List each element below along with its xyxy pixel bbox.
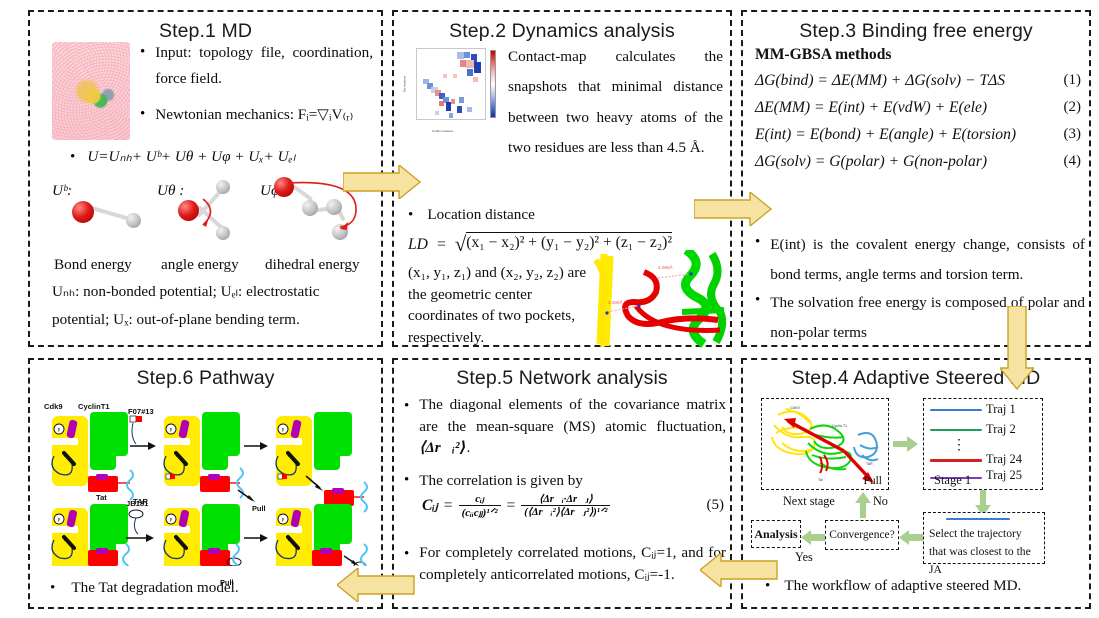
pathway-row2-stage3: P xyxy=(276,504,367,566)
panel-step4: Step.4 Adaptive Steered MD xyxy=(741,358,1091,609)
step5-bullet-3: • For completely correlated motions, Cᵢⱼ… xyxy=(404,542,726,586)
bullet-dot: • xyxy=(404,468,409,494)
step1-caption-bond: Bond energy xyxy=(54,252,132,278)
traj-line-24 xyxy=(930,459,982,462)
step5-bullet-1-text: The diagonal elements of the covariance … xyxy=(419,394,726,459)
map-cell xyxy=(451,99,455,104)
bullet-dot: • xyxy=(408,202,413,228)
pathway-label-cdk9: Cdk9 xyxy=(44,402,63,411)
contact-map-thumbnail: Tat residues CcdIin residues xyxy=(404,44,504,136)
fraction-2-numerator: ⟨Δr⃗ᵢ·Δr⃗ⱼ⟩ xyxy=(521,493,610,506)
map-cell xyxy=(457,106,462,113)
step3-bullet-2-text: The solvation free energy is composed of… xyxy=(770,288,1085,347)
cij-lhs: Cᵢⱼ xyxy=(422,496,438,515)
steered-md-protein-box: CDK9 Cyclin-T1 Tat TAR Pull xyxy=(761,398,889,490)
panel-step2: Step.2 Dynamics analysis xyxy=(392,10,732,347)
traj-line-1 xyxy=(930,409,982,411)
convergence-box: Convergence? xyxy=(825,520,899,550)
step2-explanation: (x₁, y₁, z₁) and (x₂, y₂, z₂) are the ge… xyxy=(408,262,590,348)
step6-caption-row: • The Tat degradation model. xyxy=(50,575,239,601)
contact-map-xlabel: CcdIin residues xyxy=(432,129,453,133)
arrow-left-icon xyxy=(700,553,778,587)
step1-caption-dihedral: dihedral energy xyxy=(265,252,360,278)
svg-text:P: P xyxy=(58,519,61,524)
svg-text:P: P xyxy=(58,429,61,434)
ribbon-svg xyxy=(586,250,726,350)
step1-bullet-1: • Input: topology file, coordination, fo… xyxy=(140,40,373,92)
arrow-step3-to-step4 xyxy=(1000,306,1034,390)
bullet-dot: • xyxy=(755,230,760,256)
pocket-distance-ribbon-image: 4.066Å 3.486Å xyxy=(586,250,726,350)
analysis-box: Analysis xyxy=(751,520,801,548)
equation-number: (2) xyxy=(1064,99,1082,117)
step6-caption: The Tat degradation model. xyxy=(71,575,238,601)
equals-2: = xyxy=(507,497,516,515)
fraction-1-denominator: (cᵢᵢcⱼⱼ)¹ᐟ² xyxy=(459,506,501,519)
next-stage-label: Next stage xyxy=(783,494,835,509)
arrow-right-icon xyxy=(343,165,421,199)
step5-title: Step.5 Network analysis xyxy=(394,367,730,390)
traj-label-2: Traj 2 xyxy=(986,422,1016,437)
map-cell xyxy=(439,101,444,106)
equation-5-number: (5) xyxy=(707,497,725,514)
svg-text:Cyclin-T1: Cyclin-T1 xyxy=(832,424,847,428)
equals-1: = xyxy=(444,497,453,515)
trajectory-ellipsis: ⋮ xyxy=(952,437,966,454)
bullet-dot: • xyxy=(140,40,145,66)
pathway-label-pull-1: Pull xyxy=(252,504,266,513)
bullet-dot: • xyxy=(755,288,760,314)
equation-text: ΔE(MM) = E(int) + E(vdW) + E(ele) xyxy=(755,99,987,117)
stage1-trajectory-box: Traj 1 Traj 2 ⋮ Traj 24 Traj 25 Stage 1 xyxy=(923,398,1043,490)
equation-number: (1) xyxy=(1064,72,1082,90)
fraction-2-denominator: (⟨Δr⃗ᵢ²⟩⟨Δr⃗ⱼ²⟩)¹ᐟ² xyxy=(521,506,610,518)
pathway-row1-stage2: P xyxy=(164,412,268,502)
arrow-left-icon xyxy=(337,568,415,602)
fraction-1-numerator: cᵢⱼ xyxy=(459,492,501,506)
bullet-dot: • xyxy=(404,394,409,420)
svg-text:P: P xyxy=(170,519,173,524)
fraction-1: cᵢⱼ (cᵢᵢcⱼⱼ)¹ᐟ² xyxy=(459,492,501,519)
arrow-step5-to-step6 xyxy=(337,568,415,602)
step4-title: Step.4 Adaptive Steered MD xyxy=(743,367,1089,390)
step5-bullet-1: • The diagonal elements of the covarianc… xyxy=(404,394,726,459)
step3-equation-3: E(int) = E(bond) + E(angle) + E(torsion)… xyxy=(755,126,1081,144)
panel-step6: Step.6 Pathway P xyxy=(28,358,383,609)
traj-label-24: Traj 24 xyxy=(986,452,1022,467)
workflow-figure: Step.1 MD • Input: topology file, coordi… xyxy=(0,0,1099,618)
pull-label: Pull xyxy=(863,475,882,487)
bullet-dot: • xyxy=(404,542,409,568)
pathway-row2-stage1: P xyxy=(52,504,154,566)
step1-potential-equation: U=Uₙₕ+ Uᵇ+ Uθ + Uφ + Uₓ+ Uₑₗ xyxy=(87,144,295,170)
traj-label-1: Traj 1 xyxy=(986,402,1016,417)
step1-legend-text: Uₙₕ: non-bonded potential; Uₑₗ: electros… xyxy=(52,278,372,334)
select-trajectory-box: Select the trajectory that was closest t… xyxy=(923,512,1045,564)
map-cell xyxy=(459,97,464,103)
bullet-dot: • xyxy=(50,575,55,601)
step3-subtitle: MM-GBSA methods xyxy=(755,46,891,64)
pathway-label-cyclint1: CyclinT1 xyxy=(78,402,110,411)
arrow-step2-to-step3 xyxy=(694,192,772,226)
step2-paragraph: Contact-map calculates the snapshots tha… xyxy=(508,42,723,164)
atom-grey xyxy=(126,213,141,228)
map-cell xyxy=(453,74,457,78)
stage-label: Stage 1 xyxy=(934,473,971,488)
svg-text:P: P xyxy=(282,429,285,434)
angle-energy-molecule-icon xyxy=(170,180,250,242)
arrow-down-icon xyxy=(1000,306,1034,390)
bullet-dot: • xyxy=(140,102,145,128)
map-cell xyxy=(443,74,447,78)
map-cell xyxy=(435,111,439,115)
arrow-step1-to-step2 xyxy=(343,165,421,199)
map-cell xyxy=(467,107,472,112)
map-cell xyxy=(474,62,481,73)
yes-label: Yes xyxy=(795,550,813,565)
step2-bullet-location: • Location distance xyxy=(408,202,535,228)
map-cell xyxy=(467,69,473,76)
sqrt-icon: √ xyxy=(455,232,467,256)
step3-equation-2: ΔE(MM) = E(int) + E(vdW) + E(ele) (2) xyxy=(755,99,1081,117)
equation-text: ΔG(bind) = ΔE(MM) + ΔG(solv) − TΔS xyxy=(755,72,1005,90)
step4-caption-row: • The workflow of adaptive steered MD. xyxy=(765,573,1021,599)
equation-number: (3) xyxy=(1064,126,1082,144)
step5-bullet-3-text: For completely correlated motions, Cᵢⱼ=1… xyxy=(419,542,726,586)
pathway-svg: P xyxy=(38,398,378,566)
pathway-label-jb181: JB181 xyxy=(126,499,148,508)
equation-number: (4) xyxy=(1064,153,1082,171)
selected-traj-line xyxy=(946,518,1010,520)
arrow-step4-to-step5 xyxy=(700,553,778,587)
map-cell xyxy=(449,113,453,118)
step1-bullet-1-text: Input: topology file, coordination, forc… xyxy=(155,40,373,92)
period: . xyxy=(467,439,471,456)
map-cell xyxy=(473,77,478,82)
atom-red xyxy=(72,201,94,223)
ribbon-distance-label-2: 3.486Å xyxy=(608,300,623,305)
bullet-dot: • xyxy=(70,144,75,170)
step1-bullet-2: • Newtonian mechanics: Fᵢ=▽ᵢV₍ᵣ₎ xyxy=(140,102,380,128)
step5-bullet-1-body: The diagonal elements of the covariance … xyxy=(419,396,726,435)
md-simulation-box-image xyxy=(52,42,130,140)
no-label: No xyxy=(873,494,888,509)
traj-line-2 xyxy=(930,429,982,431)
step2-bullet-location-text: Location distance xyxy=(427,202,535,228)
green-arrow-next-stage-up xyxy=(855,492,871,518)
step3-title: Step.3 Binding free energy xyxy=(743,20,1089,43)
arrow-right-icon xyxy=(694,192,772,226)
svg-text:Tat: Tat xyxy=(818,478,823,482)
step2-title: Step.2 Dynamics analysis xyxy=(394,20,730,43)
svg-text:P: P xyxy=(282,519,285,524)
map-cell xyxy=(464,52,470,58)
step4-caption: The workflow of adaptive steered MD. xyxy=(784,573,1021,599)
step1-caption-angle: angle energy xyxy=(161,252,239,278)
step1-bullet-2-text: Newtonian mechanics: Fᵢ=▽ᵢV₍ᵣ₎ xyxy=(155,102,380,128)
angle-arc-arrow-icon xyxy=(170,180,250,242)
pathway-row2-stage2: P xyxy=(164,504,268,566)
tat-degradation-pathway-diagram: P xyxy=(38,398,378,566)
step3-bullet-2: • The solvation free energy is composed … xyxy=(755,288,1085,347)
panel-step3: Step.3 Binding free energy MM-GBSA metho… xyxy=(741,10,1091,347)
ld-equals: = xyxy=(437,236,446,253)
green-arrow-protein-to-stage xyxy=(893,436,919,452)
svg-text:TAR: TAR xyxy=(866,462,873,466)
step5-bullet-2-text: The correlation is given by xyxy=(419,468,726,494)
green-arrow-convergence-to-analysis xyxy=(801,530,825,545)
step3-equation-4: ΔG(solv) = G(polar) + G(non-polar) (4) xyxy=(755,153,1081,171)
bond-energy-molecule-icon xyxy=(68,194,154,234)
step3-bullet-1-text: E(int) is the covalent energy change, co… xyxy=(770,230,1085,289)
select-trajectory-text: Select the trajectory that was closest t… xyxy=(929,525,1041,579)
pathway-label-f0713: F07#13 xyxy=(128,407,154,416)
panel-step5: Step.5 Network analysis • The diagonal e… xyxy=(392,358,732,609)
step6-title: Step.6 Pathway xyxy=(30,367,381,390)
green-arrow-select-to-convergence xyxy=(899,530,923,545)
ld-lhs: LD xyxy=(408,236,428,253)
step5-bullet-2: • The correlation is given by xyxy=(404,468,726,494)
pathway-label-tat: Tat xyxy=(96,493,107,502)
contact-map-colorbar xyxy=(490,50,496,118)
ribbon-distance-label-1: 4.066Å xyxy=(658,265,673,270)
fluctuation-symbol: ⟨Δr⃗ᵢ²⟩ xyxy=(419,439,466,456)
map-cell xyxy=(457,52,464,59)
ld-rhs: (x₁ − x₂)² + (y₁ − y₂)² + (z₁ − z₂)² xyxy=(466,232,672,252)
equation-text: ΔG(solv) = G(polar) + G(non-polar) xyxy=(755,153,987,171)
contact-map-plot xyxy=(416,48,486,120)
traj-label-25: Traj 25 xyxy=(986,468,1022,483)
svg-text:CDK9: CDK9 xyxy=(790,406,800,410)
step1-potential-equation-row: • U=Uₙₕ+ Uᵇ+ Uθ + Uφ + Uₓ+ Uₑₗ xyxy=(70,144,370,170)
step3-equation-1: ΔG(bind) = ΔE(MM) + ΔG(solv) − TΔS (1) xyxy=(755,72,1081,90)
map-cell xyxy=(466,60,474,68)
pathway-row1-stage3: P xyxy=(276,412,367,512)
step5-correlation-equation: Cᵢⱼ = cᵢⱼ (cᵢᵢcⱼⱼ)¹ᐟ² = ⟨Δr⃗ᵢ·Δr⃗ⱼ⟩ (⟨Δr… xyxy=(422,492,724,519)
equation-text: E(int) = E(bond) + E(angle) + E(torsion) xyxy=(755,126,1016,144)
contact-map-ylabel: Tat residues xyxy=(402,76,406,93)
pathway-row1-stage1: P xyxy=(52,412,156,500)
fraction-2: ⟨Δr⃗ᵢ·Δr⃗ⱼ⟩ (⟨Δr⃗ᵢ²⟩⟨Δr⃗ⱼ²⟩)¹ᐟ² xyxy=(521,493,610,518)
svg-text:P: P xyxy=(170,429,173,434)
step3-bullet-1: • E(int) is the covalent energy change, … xyxy=(755,230,1085,289)
panel-step1: Step.1 MD • Input: topology file, coordi… xyxy=(28,10,383,347)
